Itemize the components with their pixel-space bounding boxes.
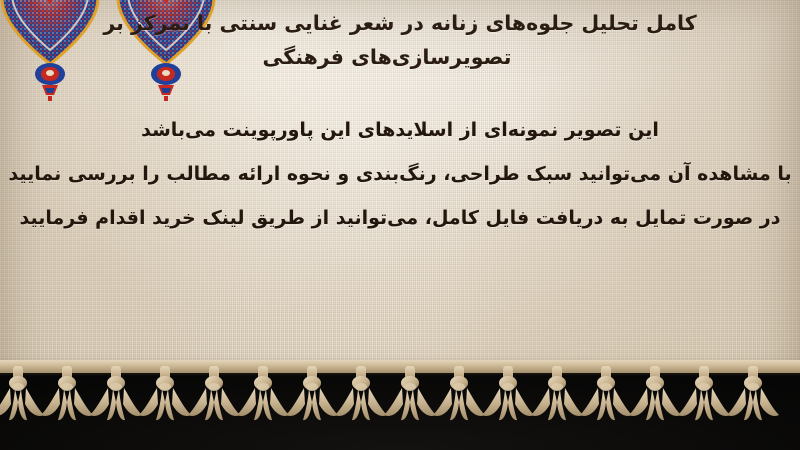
slide-body: این تصویر نمونه‌ای از اسلایدهای این پاور… xyxy=(0,108,800,240)
body-line-1: این تصویر نمونه‌ای از اسلایدهای این پاور… xyxy=(0,108,800,152)
body-line-2: با مشاهده آن می‌توانید سبک طراحی، رنگ‌بن… xyxy=(0,152,800,196)
body-line-3: در صورت تمایل به دریافت فایل کامل، می‌تو… xyxy=(0,196,800,240)
band-top-edge xyxy=(0,368,800,376)
slide-canvas: کامل تحلیل جلوه‌های زنانه در شعر غنایی س… xyxy=(0,0,800,450)
title-line-2: تصویرسازی‌های فرهنگی xyxy=(0,40,800,74)
title-line-1: کامل تحلیل جلوه‌های زنانه در شعر غنایی س… xyxy=(0,6,800,40)
slide-title: کامل تحلیل جلوه‌های زنانه در شعر غنایی س… xyxy=(0,6,800,74)
bottom-black-band xyxy=(0,368,800,450)
